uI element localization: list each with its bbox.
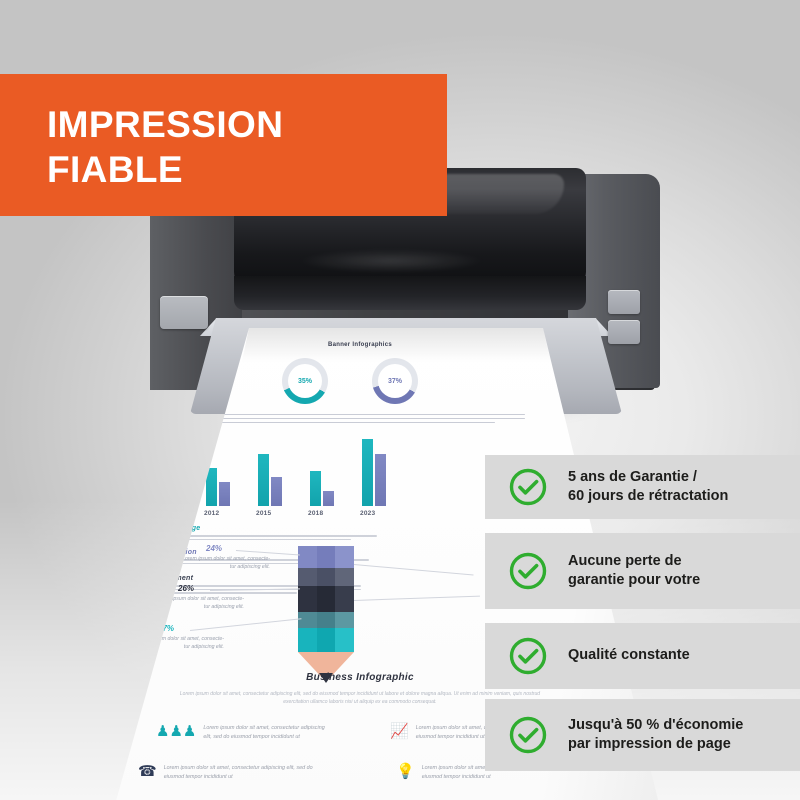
headline-line-1: IMPRESSION	[47, 102, 283, 147]
feature-line-2: 60 jours de rétractation	[568, 487, 728, 506]
pencil-segment-1	[298, 546, 354, 568]
check-circle-icon	[508, 551, 548, 591]
pencil-percent-1: 24%	[206, 544, 222, 553]
x-tick-2015: 2015	[256, 510, 271, 517]
donut-chart-2: 37%	[372, 358, 418, 404]
bar-2018-step-01	[310, 471, 321, 506]
feature-line-1: Aucune perte de	[568, 552, 700, 571]
check-circle-icon	[508, 636, 548, 676]
x-tick-2023: 2023	[360, 510, 375, 517]
pencil-segment-2	[298, 568, 354, 586]
page-title: IMPRESSION FIABLE	[47, 102, 283, 192]
pencil-text-1: Lorem ipsum dolor sit amet, consecte-tur…	[178, 556, 270, 571]
feature-line-1: Jusqu'à 50 % d'économie	[568, 716, 743, 735]
printer-output-lip	[234, 276, 586, 310]
icon-cell-people: ♟♟♟ Lorem ipsum dolor sit amet, consecte…	[156, 724, 331, 741]
icon-cell-text: Lorem ipsum dolor sit amet, consectetur …	[164, 764, 313, 781]
bar-2015-step-02	[271, 477, 282, 506]
pencil-segment-5	[298, 628, 354, 652]
bar-2015-step-01	[258, 454, 269, 506]
pencil-percent-2: 26%	[178, 584, 194, 593]
feature-box-no-warranty-loss[interactable]: Aucune perte de garantie pour votre	[485, 533, 800, 609]
feature-text: Jusqu'à 50 % d'économie par impression d…	[568, 716, 743, 754]
printer-button-left[interactable]	[160, 296, 208, 329]
feature-box-savings[interactable]: Jusqu'à 50 % d'économie par impression d…	[485, 699, 800, 771]
x-tick-2018: 2018	[308, 510, 323, 517]
donut-value: 37%	[372, 358, 418, 404]
feature-text: 5 ans de Garantie / 60 jours de rétracta…	[568, 468, 728, 506]
phone-clock-icon: ☎	[138, 764, 157, 779]
growth-chart-icon: 📈	[390, 724, 409, 739]
product-marketing-image: Banner Infographics 35% 37% Step 01	[0, 0, 800, 800]
donut-chart-1: 35%	[282, 358, 328, 404]
feature-text: Aucune perte de garantie pour votre	[568, 552, 700, 590]
donut-value: 35%	[282, 358, 328, 404]
list-body-lines	[162, 535, 377, 542]
feature-line-1: Qualité constante	[568, 646, 690, 665]
icon-cell-phone: ☎ Lorem ipsum dolor sit amet, consectetu…	[138, 764, 313, 781]
bar-2012-step-02	[219, 482, 230, 506]
bar-2018-step-02	[323, 491, 334, 506]
bar-2023-step-01	[362, 439, 373, 506]
headline-banner: IMPRESSION FIABLE	[0, 74, 447, 216]
lorem-rule	[180, 418, 525, 419]
feature-line-2: par impression de page	[568, 735, 743, 754]
people-group-icon: ♟♟♟	[156, 724, 196, 739]
feature-text: Qualité constante	[568, 646, 690, 665]
feature-box-warranty[interactable]: 5 ans de Garantie / 60 jours de rétracta…	[485, 455, 800, 519]
printer-top-highlight	[266, 248, 516, 274]
printer-button-right-top[interactable]	[608, 290, 640, 314]
bar-2023-step-02	[375, 454, 386, 506]
check-circle-icon	[508, 715, 548, 755]
x-tick-2012: 2012	[204, 510, 219, 517]
leader-line	[354, 564, 474, 575]
leader-line	[190, 618, 301, 631]
check-circle-icon	[508, 467, 548, 507]
leader-line	[236, 550, 300, 555]
feature-line-2: garantie pour votre	[568, 571, 700, 590]
pencil-stacked-chart	[298, 546, 354, 682]
feature-line-1: 5 ans de Garantie /	[568, 468, 728, 487]
lorem-rule	[180, 414, 525, 415]
lightbulb-icon: 💡	[396, 764, 415, 779]
printer-button-right-bottom[interactable]	[608, 320, 640, 344]
icon-cell-text: Lorem ipsum dolor sit amet, consectetur …	[203, 724, 331, 741]
pencil-segment-4	[298, 612, 354, 628]
feature-box-quality[interactable]: Qualité constante	[485, 623, 800, 689]
headline-line-2: FIABLE	[47, 147, 283, 192]
pencil-segment-3	[298, 586, 354, 612]
leader-line	[354, 596, 480, 601]
